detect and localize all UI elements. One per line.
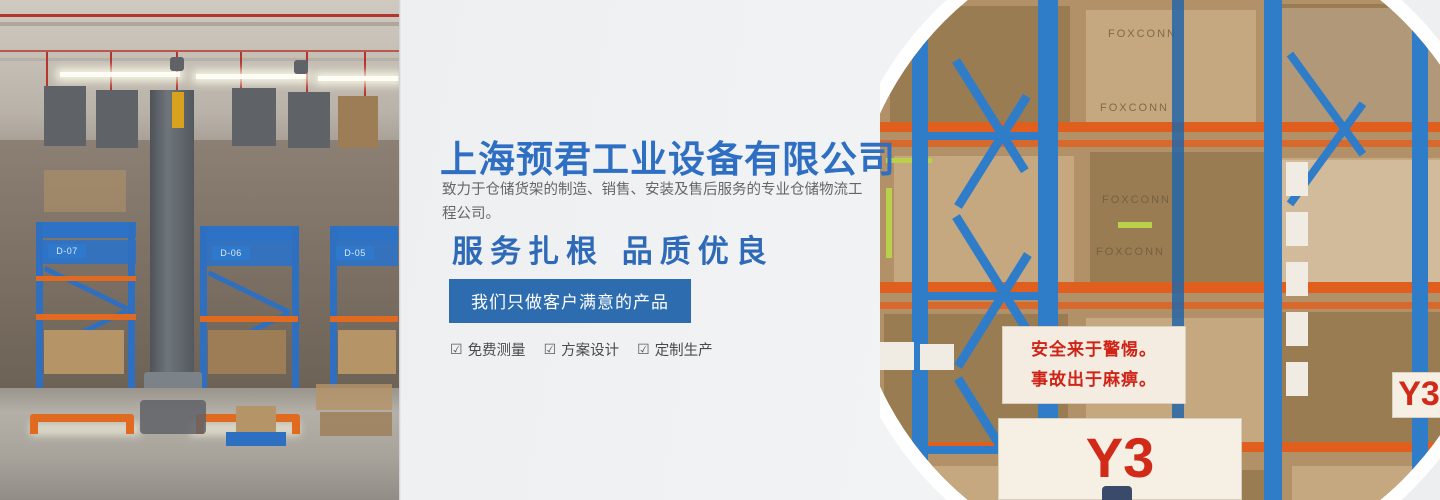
rack-horizontal (920, 132, 1048, 140)
sprinkler-pipe (0, 14, 399, 17)
carton-brand-text: FOXCONN (1096, 246, 1165, 258)
rack-upright (1412, 0, 1428, 500)
feature-label: 定制生产 (655, 339, 713, 360)
blue-pallet (226, 432, 286, 446)
ceiling-light (196, 74, 306, 79)
top-crate (232, 88, 276, 146)
rack-upright (1264, 0, 1282, 500)
feature-item-custom-production: ☑ 定制生产 (637, 339, 713, 360)
location-label (1286, 362, 1308, 396)
safety-sign: 安全来于警惕。 事故出于麻痹。 (1002, 326, 1186, 404)
rack-beam (880, 302, 1440, 309)
feature-label: 方案设计 (561, 339, 619, 360)
ceiling-fan (294, 60, 308, 74)
rack-label-d06: D-06 (212, 246, 250, 260)
mast-marker (172, 92, 184, 128)
ceiling-light (60, 72, 180, 77)
carton-brand-text: FOXCONN (1100, 102, 1169, 114)
rack-shelf (200, 226, 298, 242)
rack-beam (880, 122, 1440, 132)
hero-banner: D-07 D-07 D-06 D-05 (0, 0, 1440, 500)
location-label (1286, 312, 1308, 346)
carton-brand-text: FOXCONN (1108, 28, 1177, 40)
feature-list: ☑ 免费测量 ☑ 方案设计 ☑ 定制生产 (450, 339, 713, 360)
top-crate (96, 90, 138, 148)
rack-label-d07: D-07 (48, 244, 86, 258)
rack-guard-leg (30, 420, 38, 434)
checkbox-checked-icon: ☑ (544, 343, 557, 357)
rack-guard-leg (292, 420, 300, 434)
company-subtitle: 致力于仓储货架的制造、销售、安装及售后服务的专业仓储物流工程公司。 (442, 178, 872, 226)
vna-truck-mast (150, 90, 194, 420)
checkbox-checked-icon: ☑ (637, 343, 650, 357)
left-warehouse-photo: D-07 D-07 D-06 D-05 (0, 0, 399, 500)
right-warehouse-photo: FOXCONN FOXCONN FOXCONN FOXCONN (880, 0, 1440, 500)
carton (208, 330, 286, 374)
rack-label-d05: D-05 (336, 246, 374, 260)
roof-beam (0, 22, 399, 26)
cta-button[interactable]: 我们只做客户满意的产品 (449, 279, 691, 323)
sprinkler-pipe (0, 50, 399, 52)
photo-content: FOXCONN FOXCONN FOXCONN FOXCONN (880, 0, 1440, 500)
truck-chassis (140, 400, 206, 434)
rack-guard (30, 414, 134, 422)
feature-label: 免费测量 (468, 339, 526, 360)
rack-beam (200, 316, 298, 322)
rack-shelf (330, 226, 398, 242)
carton (44, 330, 124, 374)
checkbox-checked-icon: ☑ (450, 343, 463, 357)
carton (44, 170, 126, 212)
banner-text-block: 上海预君工业设备有限公司 致力于仓储货架的制造、销售、安装及售后服务的专业仓储物… (440, 0, 910, 500)
ceiling-fan (170, 57, 184, 71)
safety-sign-line-1: 安全来于警惕。 (1003, 335, 1185, 365)
carton-on-pallet (236, 406, 276, 432)
aisle-code-sign-edge: Y3 (1392, 372, 1440, 418)
rack-beam (36, 276, 136, 281)
location-label (1286, 162, 1308, 196)
feature-item-free-measurement: ☑ 免费测量 (450, 339, 526, 360)
safety-sign-line-2: 事故出于麻痹。 (1003, 365, 1185, 395)
rack-beam (36, 314, 136, 320)
carton (316, 384, 392, 410)
top-crate (288, 92, 330, 148)
photo-panel-divider (399, 0, 401, 500)
rack-beam (330, 316, 398, 322)
roof-beam (0, 58, 399, 61)
ceiling-light (318, 76, 398, 81)
location-label (1286, 262, 1308, 296)
company-slogan: 服务扎根 品质优良 (452, 226, 774, 271)
rack-guard-leg (126, 420, 134, 434)
carton (320, 412, 392, 436)
sprinkler-drop (364, 52, 366, 96)
location-label (920, 344, 954, 370)
forklift-operator (1102, 486, 1132, 500)
carton-brand-text: FOXCONN (1102, 194, 1171, 206)
rack-shelf (36, 222, 136, 238)
right-photo-wrapper: FOXCONN FOXCONN FOXCONN FOXCONN (880, 0, 1440, 500)
carton (338, 330, 396, 374)
rack-upright (912, 0, 928, 500)
floor-reflection (30, 422, 140, 436)
feature-item-scheme-design: ☑ 方案设计 (544, 339, 620, 360)
location-label (1286, 212, 1308, 246)
company-headline: 上海预君工业设备有限公司 (440, 129, 896, 183)
rack-horizontal (920, 292, 1048, 300)
green-tag (1118, 222, 1152, 228)
top-carton (338, 96, 378, 148)
top-crate (44, 86, 86, 146)
